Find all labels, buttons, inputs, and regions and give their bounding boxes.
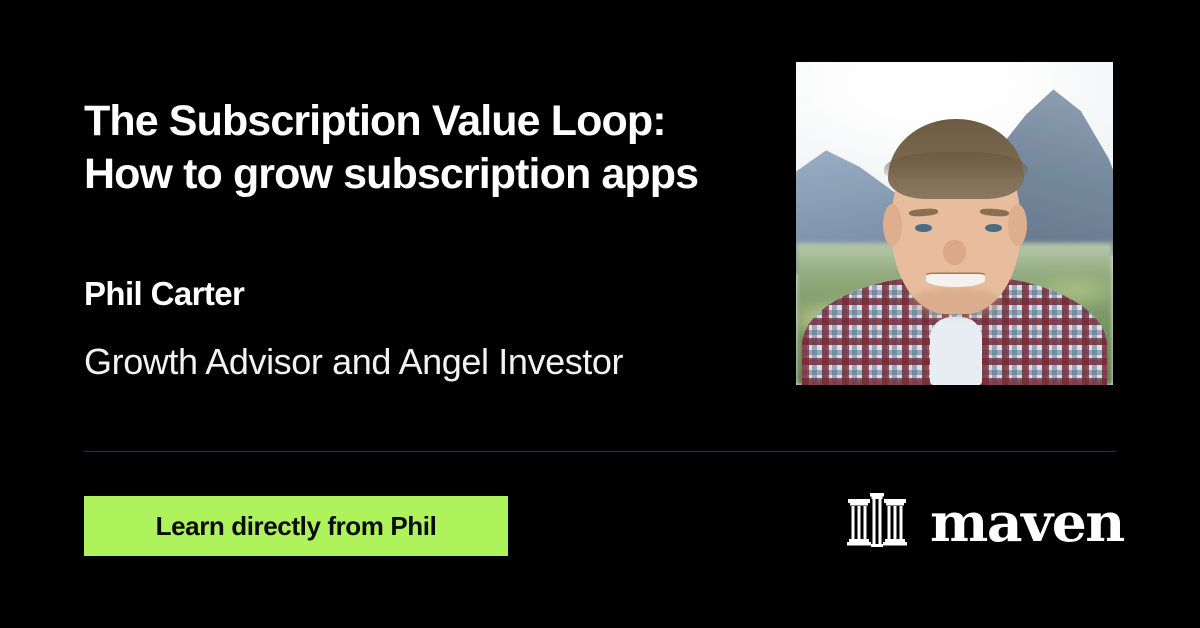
- photo-smile: [926, 274, 985, 288]
- photo-undershirt: [930, 317, 982, 385]
- speaker-name: Phil Carter: [84, 275, 244, 313]
- maven-wordmark: maven: [930, 497, 1124, 550]
- photo-chin-shadow: [910, 288, 1002, 317]
- page-title: The Subscription Value Loop: How to grow…: [84, 95, 784, 201]
- promo-card: The Subscription Value Loop: How to grow…: [0, 0, 1200, 628]
- learn-from-speaker-button[interactable]: Learn directly from Phil: [84, 496, 508, 556]
- photo-hair: [888, 119, 1024, 200]
- photo-nose: [943, 240, 965, 266]
- photo-eye-left: [915, 224, 932, 232]
- divider: [84, 451, 1116, 452]
- maven-logo[interactable]: maven: [846, 489, 1116, 557]
- maven-columns-icon: [846, 491, 908, 556]
- speaker-role: Growth Advisor and Angel Investor: [84, 340, 623, 384]
- photo-person: [796, 62, 1113, 385]
- cta-label: Learn directly from Phil: [156, 511, 437, 542]
- photo-eye-right: [985, 224, 1002, 232]
- speaker-photo: [796, 62, 1113, 385]
- photo-ear-right: [1008, 204, 1027, 246]
